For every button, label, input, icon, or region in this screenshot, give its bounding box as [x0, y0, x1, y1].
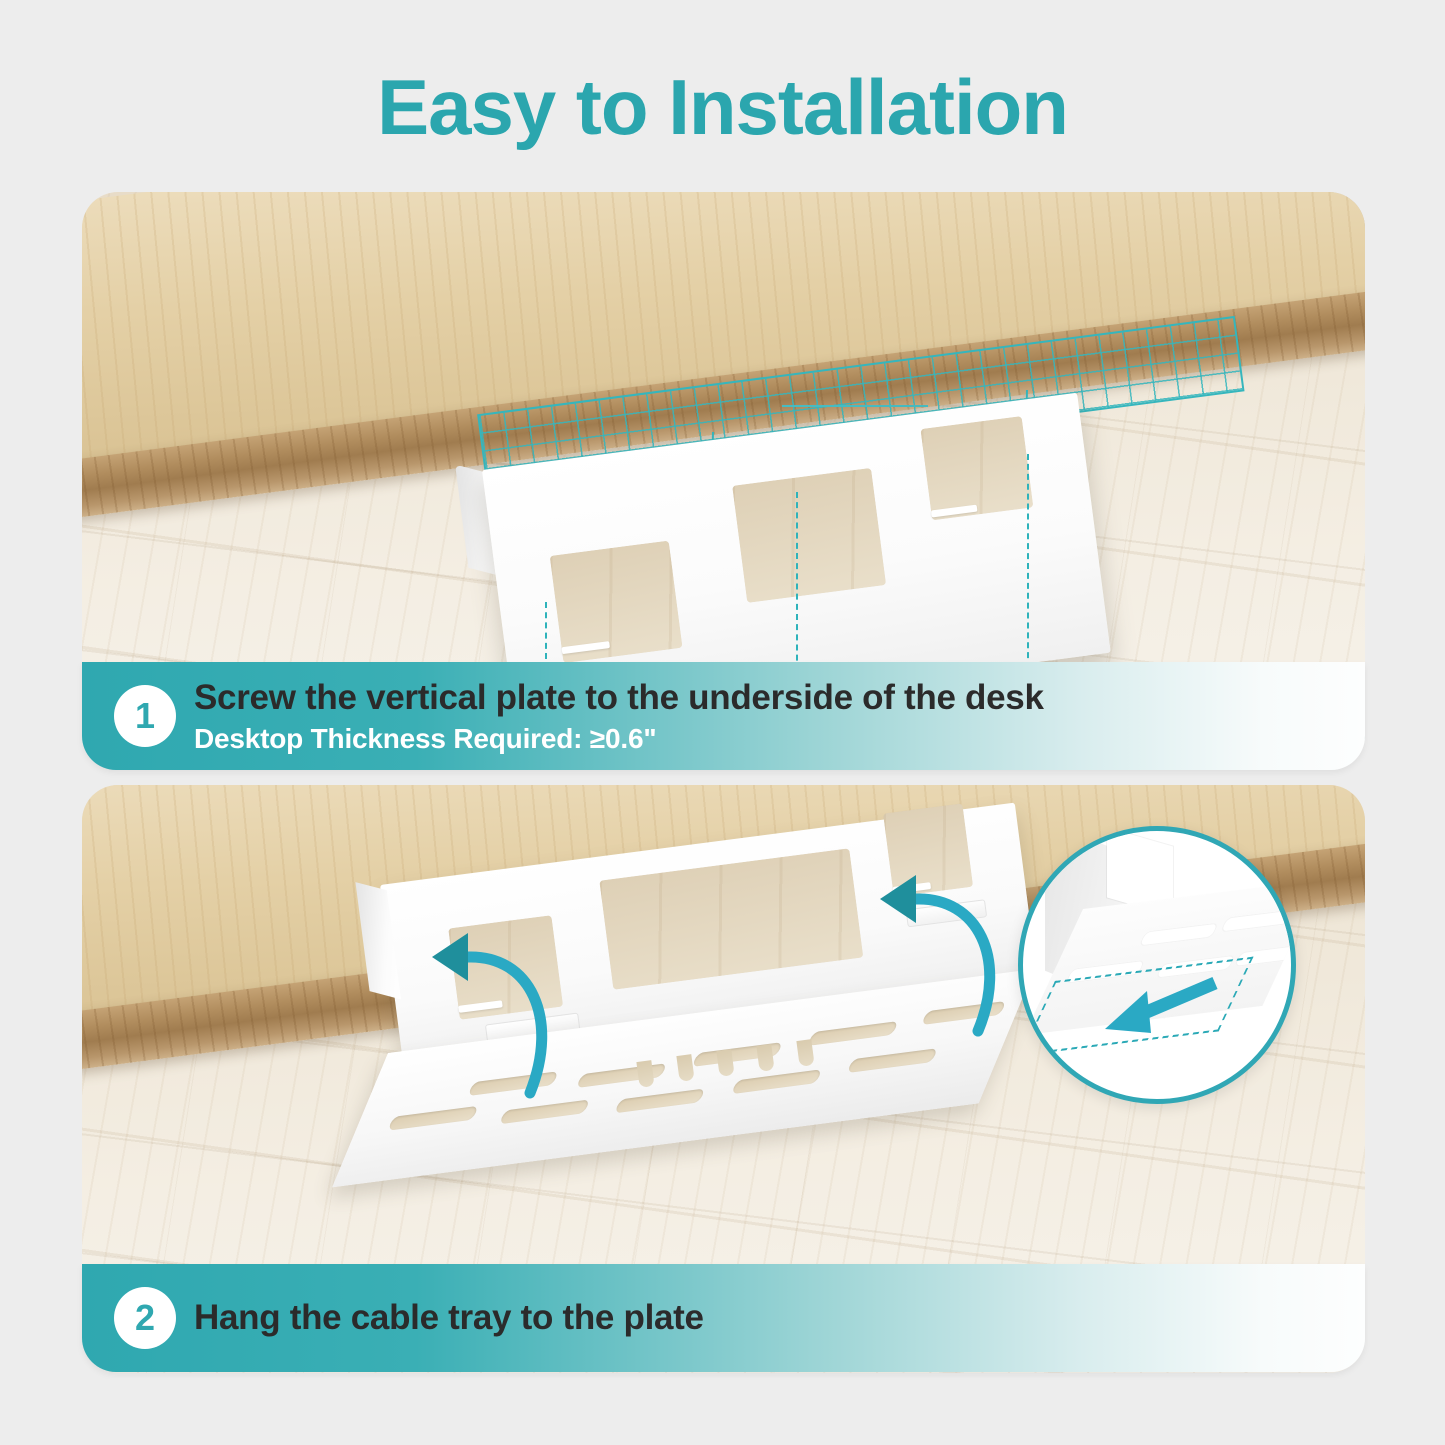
- screw-guide-line-3: [1027, 454, 1029, 678]
- tray-slot: [499, 1099, 590, 1124]
- inset-slot: [1220, 909, 1296, 933]
- curved-down-arrow-icon-left: [410, 923, 560, 1103]
- step-1-badge: 1: [114, 685, 176, 747]
- step-1-subtitle: Desktop Thickness Required: ≥0.6": [194, 723, 1044, 755]
- tray-slot: [847, 1048, 938, 1073]
- page-title: Easy to Installation: [0, 62, 1445, 153]
- step-2-badge: 2: [114, 1287, 176, 1349]
- inset-slot: [1138, 923, 1218, 947]
- step-2-title: Hang the cable tray to the plate: [194, 1298, 704, 1338]
- step-1-text-group: Screw the vertical plate to the undersid…: [194, 678, 1044, 755]
- tray-cable-notch: [676, 1054, 694, 1082]
- tray-slot: [388, 1106, 479, 1131]
- cutout-see-through-right: [920, 416, 1033, 520]
- tray-cable-notch: [636, 1060, 654, 1088]
- inset-direction-arrow-icon: [1089, 971, 1229, 1043]
- cutout-see-through-center: [732, 468, 886, 603]
- curved-down-arrow-icon-right: [856, 871, 1006, 1051]
- plate-cutout-left: [550, 541, 683, 664]
- tray-slot: [614, 1088, 705, 1113]
- detail-inset-icon: [1018, 826, 1296, 1104]
- step-2-text-group: Hang the cable tray to the plate: [194, 1298, 704, 1338]
- tray-slot: [731, 1069, 822, 1094]
- tray-slot: [576, 1063, 667, 1088]
- plate-cutout-center: [732, 468, 886, 603]
- tray-cutout-see-through-center: [599, 848, 863, 990]
- tray-cable-notch: [716, 1049, 734, 1077]
- plate-cutout-right: [920, 416, 1033, 520]
- tray-cable-notch: [796, 1039, 814, 1067]
- cable-tray-assembly: [370, 885, 1060, 1245]
- step-1-title: Screw the vertical plate to the undersid…: [194, 678, 1044, 718]
- cutout-see-through-left: [550, 541, 683, 664]
- step-1-caption-bar: 1 Screw the vertical plate to the unders…: [82, 662, 1365, 770]
- tray-cable-notch: [756, 1044, 774, 1072]
- step-2-caption-bar: 2 Hang the cable tray to the plate: [82, 1264, 1365, 1372]
- tray-cutout-center: [599, 848, 863, 990]
